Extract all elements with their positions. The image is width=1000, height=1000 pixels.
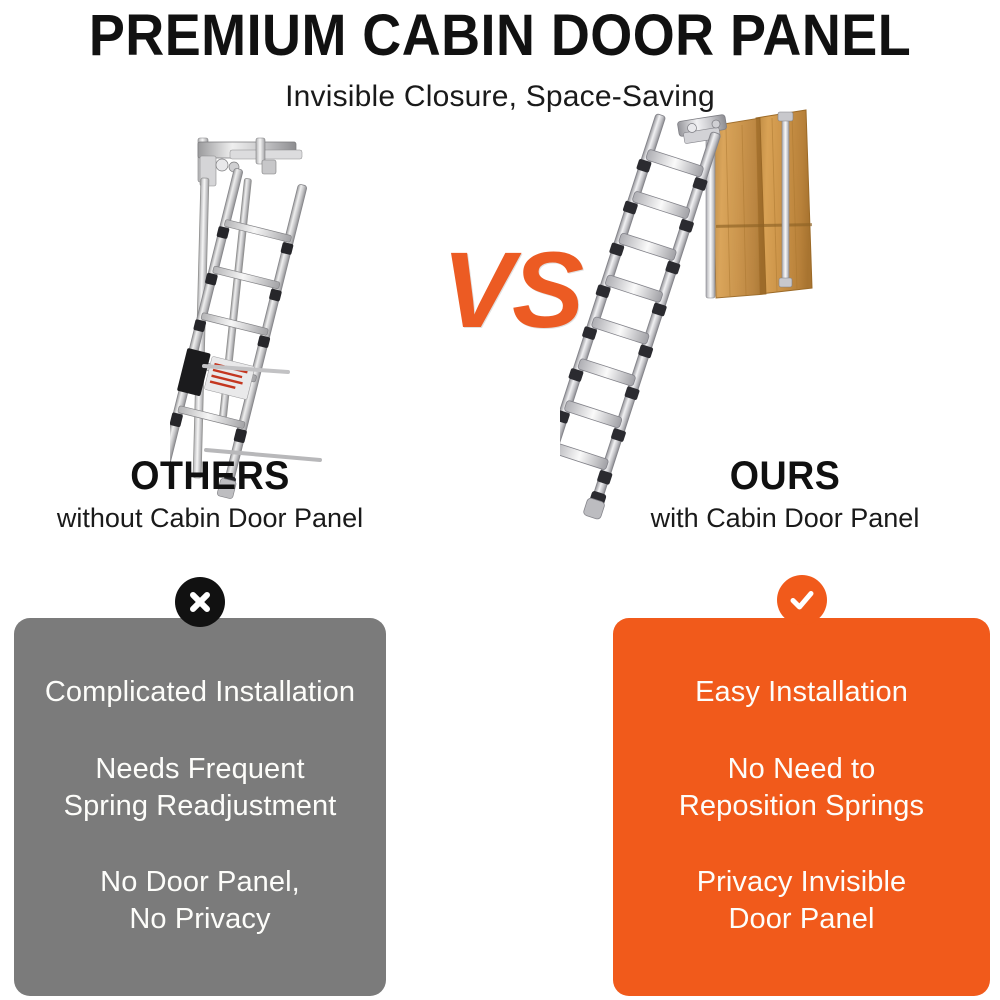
ours-feature-3: Privacy Invisible Door Panel: [697, 864, 907, 938]
close-x-icon: [175, 577, 225, 627]
feature-panel-ours: Easy Installation No Need to Reposition …: [613, 618, 990, 996]
ours-heading: OURS: [588, 455, 983, 497]
others-feature-3: No Door Panel, No Privacy: [100, 864, 300, 938]
others-feature-1: Complicated Installation: [45, 674, 355, 711]
ours-subheading: with Cabin Door Panel: [575, 503, 995, 534]
page-title: PREMIUM CABIN DOOR PANEL: [35, 6, 965, 67]
versus-label: VS: [432, 236, 592, 344]
infographic-canvas: PREMIUM CABIN DOOR PANEL Invisible Closu…: [0, 0, 1000, 1000]
ours-feature-1: Easy Installation: [695, 674, 908, 711]
others-subheading: without Cabin Door Panel: [0, 503, 420, 534]
others-heading: OTHERS: [13, 455, 408, 497]
check-mark-icon: [777, 575, 827, 625]
ours-feature-2: No Need to Reposition Springs: [679, 751, 924, 825]
others-feature-2: Needs Frequent Spring Readjustment: [64, 751, 337, 825]
feature-panel-others: Complicated Installation Needs Frequent …: [14, 618, 386, 996]
column-caption-ours: OURS with Cabin Door Panel: [575, 455, 995, 534]
product-image-others: [170, 120, 430, 500]
column-caption-others: OTHERS without Cabin Door Panel: [0, 455, 420, 534]
